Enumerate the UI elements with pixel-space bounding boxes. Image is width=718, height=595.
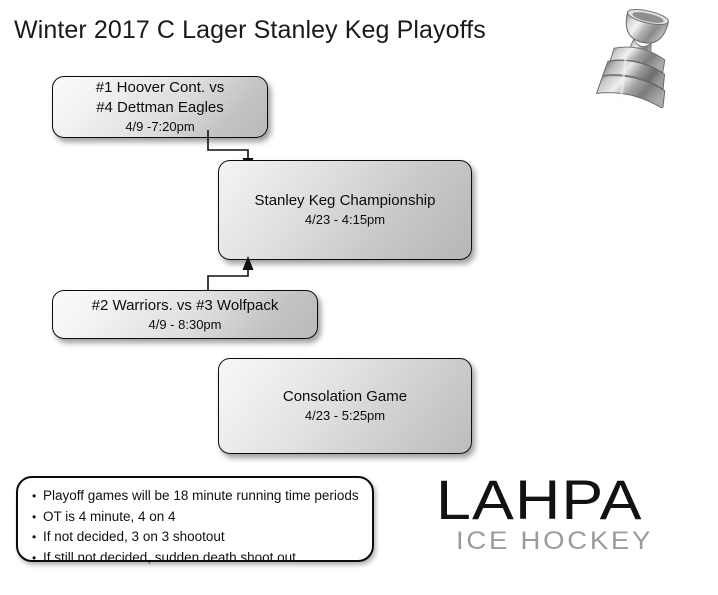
- bracket-node-semifinal-2[interactable]: #2 Warriors. vs #3 Wolfpack 4/9 - 8:30pm: [52, 290, 318, 339]
- lahpa-subtitle: ICE HOCKEY: [456, 528, 718, 554]
- rules-item: If not decided, 3 on 3 shootout: [32, 527, 360, 548]
- trophy-keg-icon: [596, 4, 682, 108]
- bracket-node-semifinal-1[interactable]: #1 Hoover Cont. vs #4 Dettman Eagles 4/9…: [52, 76, 268, 138]
- rules-list: Playoff games will be 18 minute running …: [32, 486, 360, 568]
- bracket-node-championship[interactable]: Stanley Keg Championship 4/23 - 4:15pm: [218, 160, 472, 260]
- lahpa-wordmark: LAHPA: [436, 474, 718, 526]
- consolation-line1: Consolation Game: [283, 387, 407, 407]
- semifinal-1-time: 4/9 -7:20pm: [125, 118, 194, 136]
- bracket-node-consolation[interactable]: Consolation Game 4/23 - 5:25pm: [218, 358, 472, 454]
- lahpa-logo: LAHPA ICE HOCKEY: [436, 474, 704, 560]
- rules-box: Playoff games will be 18 minute running …: [16, 476, 374, 562]
- semifinal-2-time: 4/9 - 8:30pm: [149, 316, 222, 334]
- championship-line1: Stanley Keg Championship: [255, 191, 436, 211]
- semifinal-1-line1: #1 Hoover Cont. vs: [96, 78, 224, 98]
- consolation-time: 4/23 - 5:25pm: [305, 407, 385, 425]
- semifinal-1-line2: #4 Dettman Eagles: [96, 98, 224, 118]
- rules-item: OT is 4 minute, 4 on 4: [32, 507, 360, 528]
- semifinal-2-line1: #2 Warriors. vs #3 Wolfpack: [92, 296, 279, 316]
- page-title: Winter 2017 C Lager Stanley Keg Playoffs: [14, 16, 486, 45]
- slide-canvas: Winter 2017 C Lager Stanley Keg Playoffs: [0, 0, 718, 595]
- rules-item: If still not decided, sudden death shoot…: [32, 548, 360, 569]
- championship-time: 4/23 - 4:15pm: [305, 211, 385, 229]
- rules-item: Playoff games will be 18 minute running …: [32, 486, 360, 507]
